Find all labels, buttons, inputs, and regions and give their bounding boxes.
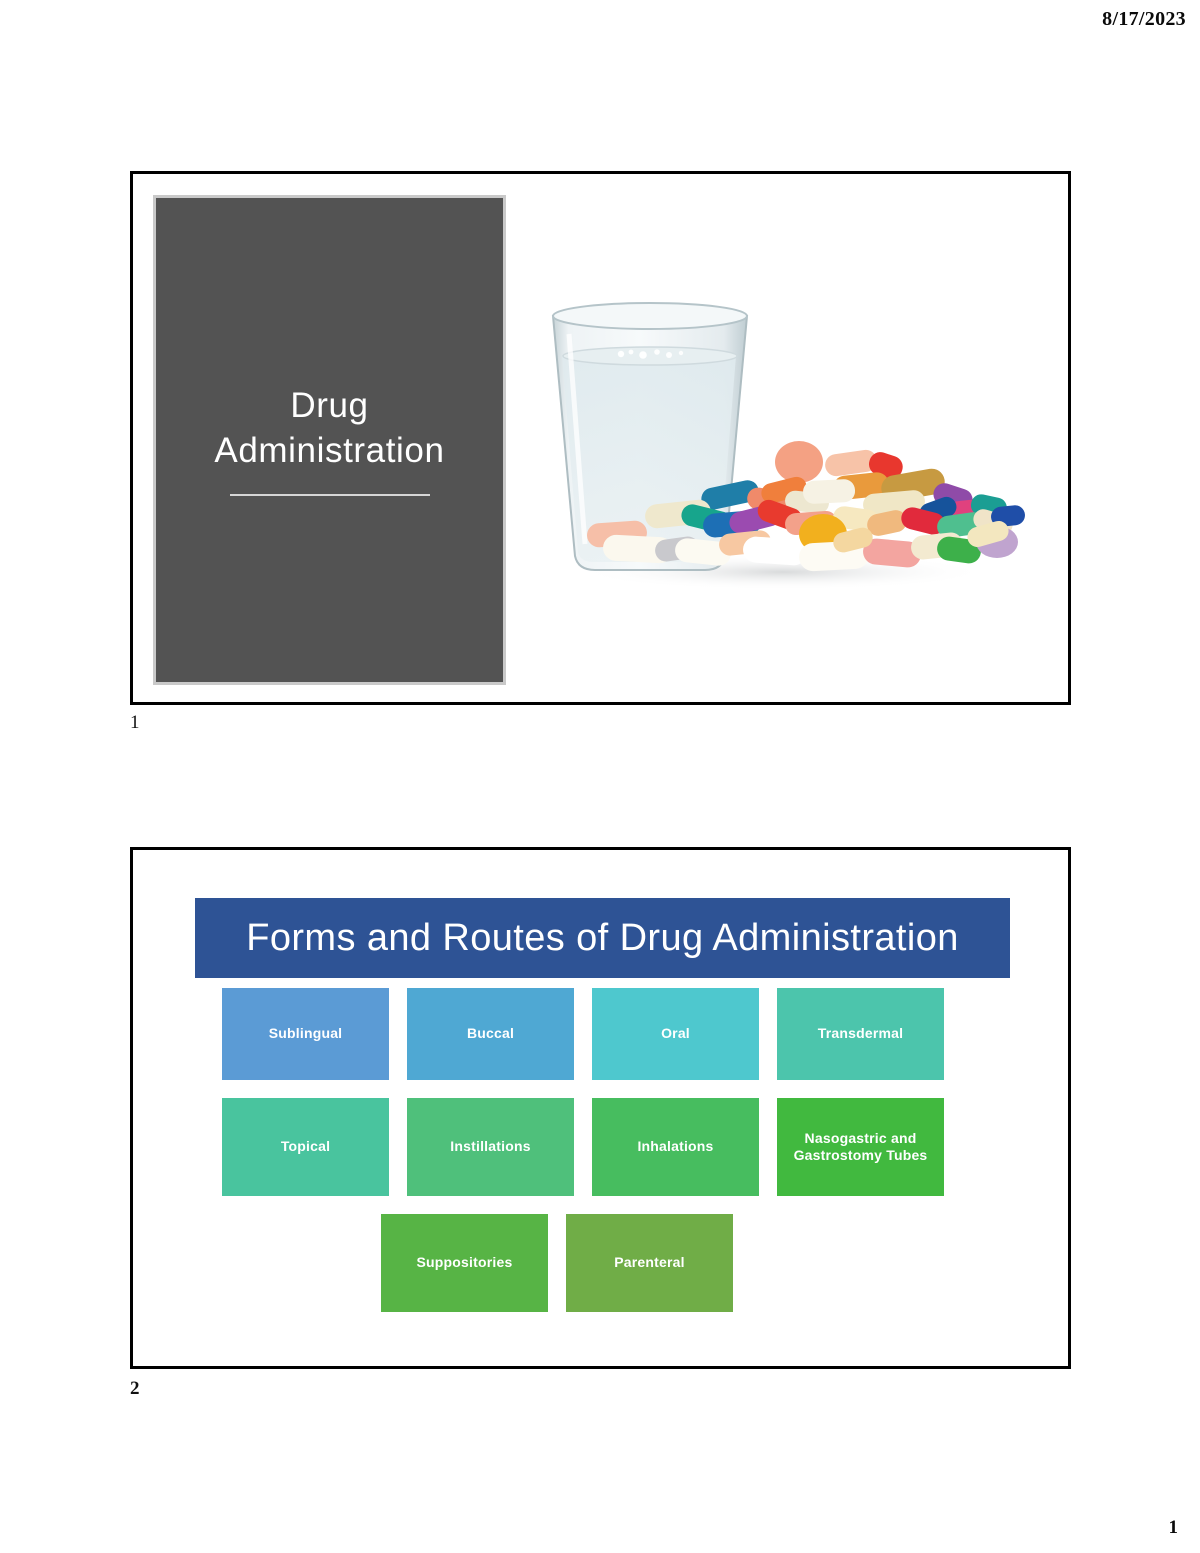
route-box-sublingual[interactable]: Sublingual bbox=[222, 988, 389, 1080]
slide-2-banner: Forms and Routes of Drug Administration bbox=[195, 898, 1010, 978]
slide-1-number: 1 bbox=[130, 712, 140, 734]
route-row-1: Sublingual Buccal Oral Transdermal bbox=[195, 988, 1010, 1080]
slide-1-frame: Drug Administration bbox=[130, 171, 1071, 705]
slide-1-title-panel: Drug Administration bbox=[153, 195, 506, 685]
slide-2-number: 2 bbox=[130, 1378, 140, 1400]
route-box-topical[interactable]: Topical bbox=[222, 1098, 389, 1196]
glass-of-water-with-pills-photo bbox=[533, 294, 1043, 594]
route-box-instillations[interactable]: Instillations bbox=[407, 1098, 574, 1196]
route-box-inhalations[interactable]: Inhalations bbox=[592, 1098, 759, 1196]
document-date: 8/17/2023 bbox=[1102, 8, 1186, 31]
slide-2-frame: Forms and Routes of Drug Administration … bbox=[130, 847, 1071, 1369]
route-box-suppositories[interactable]: Suppositories bbox=[381, 1214, 548, 1312]
route-row-3: Suppositories Parenteral bbox=[195, 1214, 1010, 1312]
slide-1-title: Drug Administration bbox=[196, 384, 462, 474]
route-boxes-grid: Sublingual Buccal Oral Transdermal Topic… bbox=[195, 988, 1010, 1330]
route-row-2: Topical Instillations Inhalations Nasoga… bbox=[195, 1098, 1010, 1196]
route-box-oral[interactable]: Oral bbox=[592, 988, 759, 1080]
route-box-buccal[interactable]: Buccal bbox=[407, 988, 574, 1080]
route-box-nasogastric-and-gastrostomy-tubes[interactable]: Nasogastric and Gastrostomy Tubes bbox=[777, 1098, 944, 1196]
document-page-number: 1 bbox=[1169, 1517, 1179, 1539]
route-box-parenteral[interactable]: Parenteral bbox=[566, 1214, 733, 1312]
slide-2-banner-title: Forms and Routes of Drug Administration bbox=[246, 917, 959, 960]
title-underline-rule bbox=[230, 494, 430, 496]
route-box-transdermal[interactable]: Transdermal bbox=[777, 988, 944, 1080]
